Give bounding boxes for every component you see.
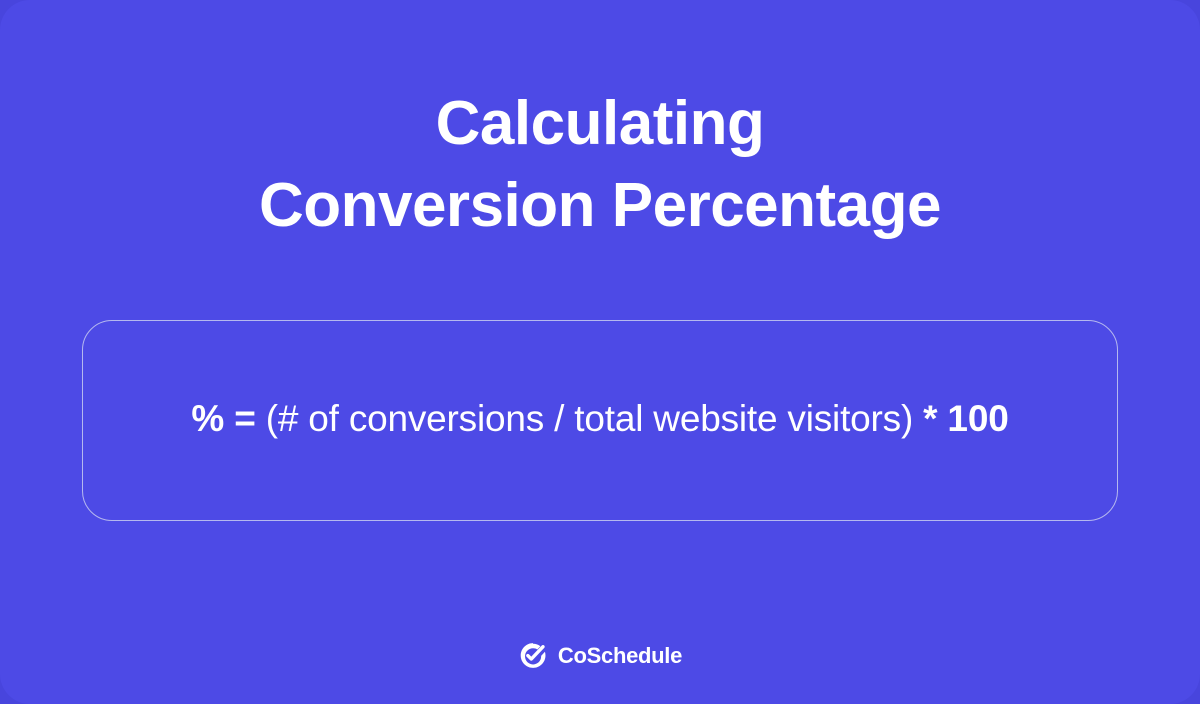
title-line-1: Calculating xyxy=(0,83,1200,165)
page-title: Calculating Conversion Percentage xyxy=(0,83,1200,247)
formula-text: % = (# of conversions / total website vi… xyxy=(191,396,1008,442)
formula-card: % = (# of conversions / total website vi… xyxy=(82,320,1118,521)
formula-segment-expression: (# of conversions / total website visito… xyxy=(266,398,913,439)
formula-segment-multiplier: * 100 xyxy=(913,398,1009,439)
footer-brand: CoSchedule xyxy=(0,641,1200,671)
title-line-2: Conversion Percentage xyxy=(0,165,1200,247)
formula-segment-prefix: % = xyxy=(191,398,265,439)
check-circle-icon xyxy=(518,641,548,671)
infographic-canvas: Calculating Conversion Percentage % = (#… xyxy=(0,0,1200,704)
brand-name: CoSchedule xyxy=(558,641,682,671)
